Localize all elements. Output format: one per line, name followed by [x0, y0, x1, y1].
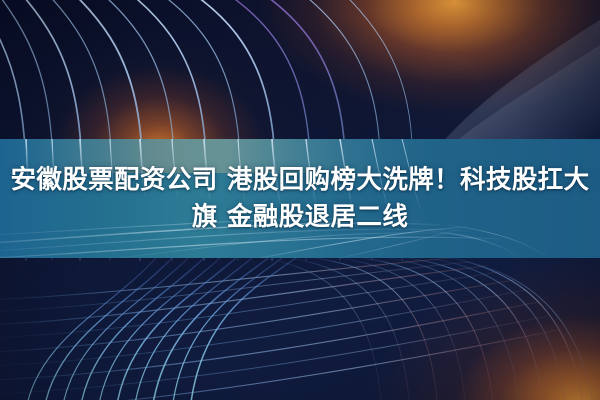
headline-line-1: 安徽股票配资公司 港股回购榜大洗牌！科技股扛大 [10, 162, 589, 199]
headline-band: 安徽股票配资公司 港股回购榜大洗牌！科技股扛大 旗 金融股退居二线 [0, 139, 600, 258]
headline-line-2: 旗 金融股退居二线 [192, 199, 408, 236]
headline-title: 安徽股票配资公司 港股回购榜大洗牌！科技股扛大 旗 金融股退居二线 [0, 139, 600, 258]
banner-image: 安徽股票配资公司 港股回购榜大洗牌！科技股扛大 旗 金融股退居二线 [0, 0, 600, 400]
